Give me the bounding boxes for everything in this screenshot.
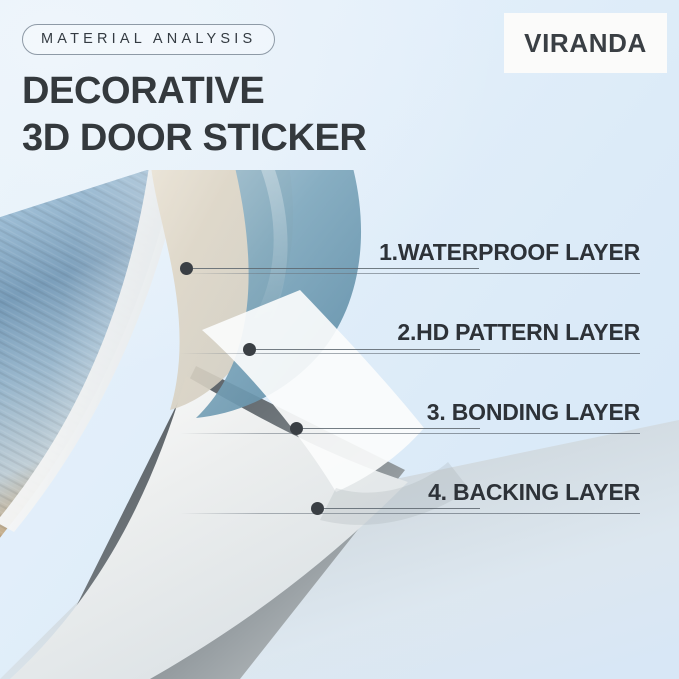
callout-label: 1.WATERPROOF LAYER — [379, 239, 640, 266]
callout-label: 2.HD PATTERN LAYER — [397, 319, 640, 346]
callout-hd-pattern-layer[interactable]: 2.HD PATTERN LAYER — [0, 312, 640, 354]
callout-underline — [180, 513, 640, 514]
callout-underline — [180, 433, 640, 434]
callout-label: 3. BONDING LAYER — [427, 399, 640, 426]
callout-label: 4. BACKING LAYER — [428, 479, 640, 506]
leader-line-waterproof — [193, 268, 479, 269]
page-title: DECORATIVE 3D DOOR STICKER — [22, 68, 366, 162]
marker-dot-bonding[interactable] — [290, 422, 303, 435]
leader-line-hd-pattern — [256, 349, 480, 350]
brand-logo: VIRANDA — [504, 13, 667, 73]
page-title-line-2: 3D DOOR STICKER — [22, 115, 366, 162]
marker-dot-hd-pattern[interactable] — [243, 343, 256, 356]
page-title-line-1: DECORATIVE — [22, 70, 264, 112]
leader-line-backing — [324, 508, 480, 509]
marker-dot-waterproof[interactable] — [180, 262, 193, 275]
material-analysis-badge: MATERIAL ANALYSIS — [22, 24, 275, 55]
leader-line-bonding — [303, 428, 480, 429]
brand-logo-text: VIRANDA — [524, 28, 647, 59]
callout-underline — [180, 273, 640, 274]
marker-dot-backing[interactable] — [311, 502, 324, 515]
infographic-canvas: MATERIAL ANALYSIS DECORATIVE 3D DOOR STI… — [0, 0, 679, 679]
